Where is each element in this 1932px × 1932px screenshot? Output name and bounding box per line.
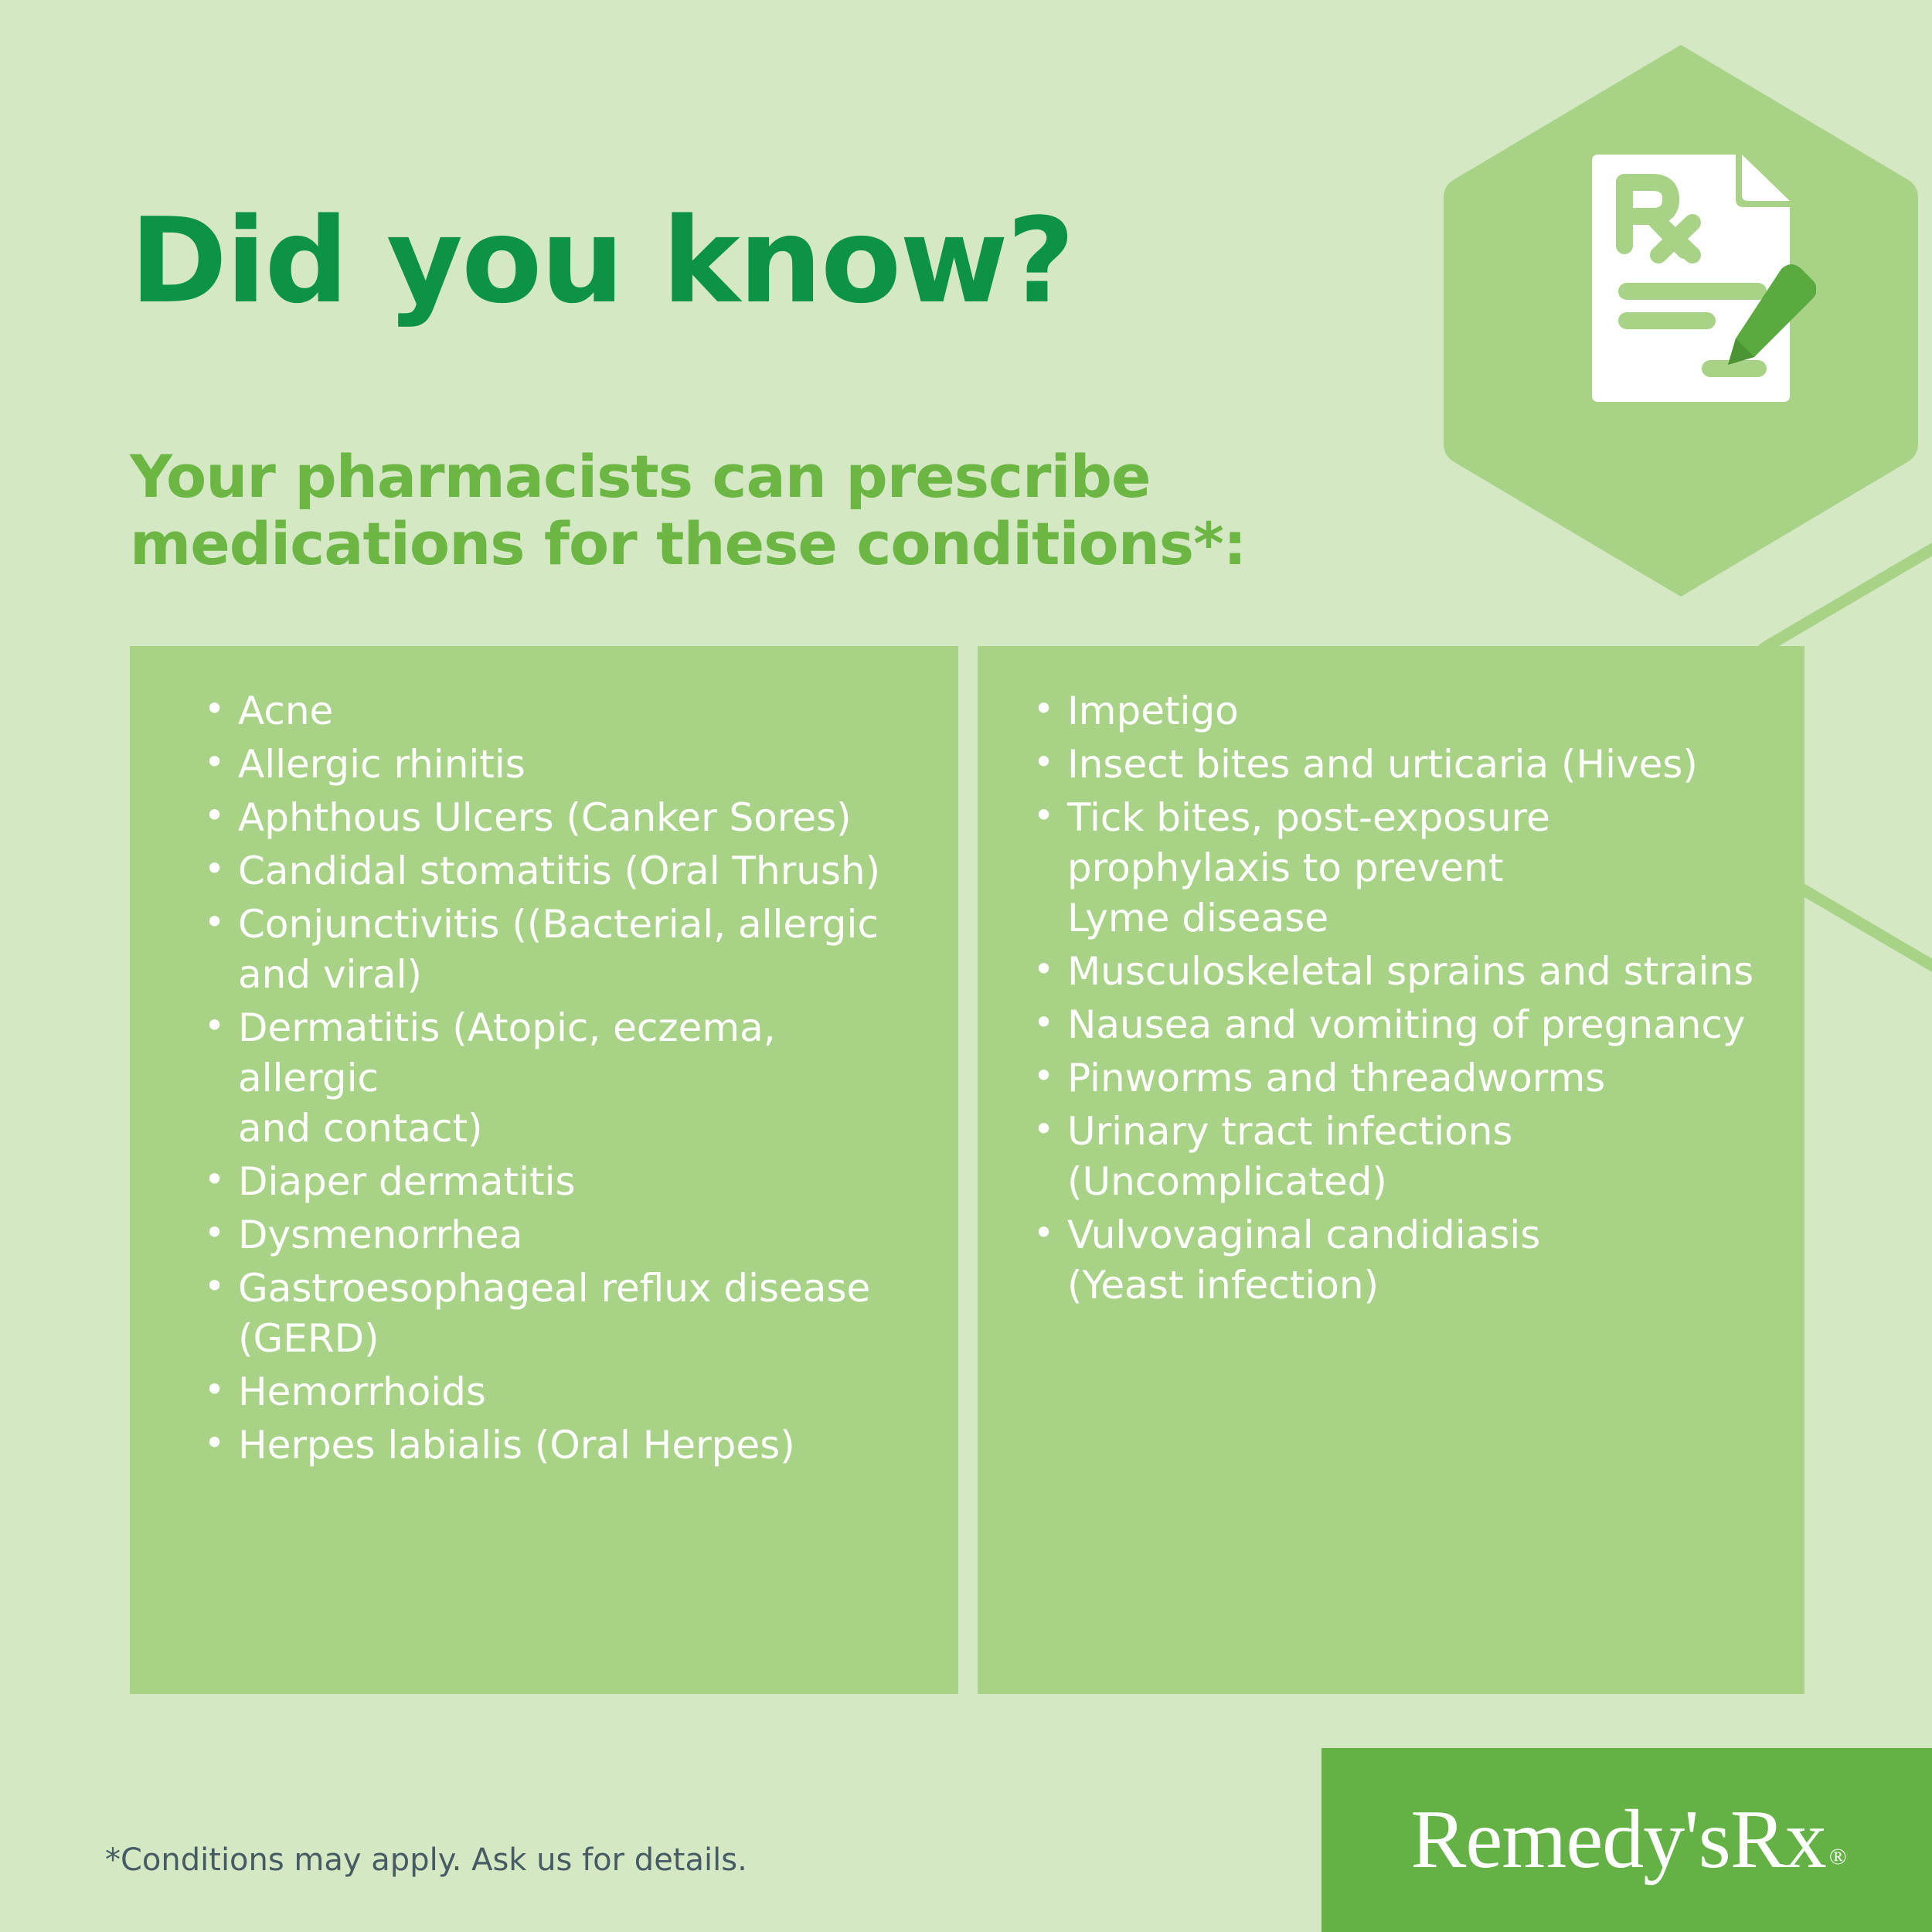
conditions-panel-right: ImpetigoInsect bites and urticaria (Hive… (978, 646, 1804, 1694)
list-item: Dysmenorrhea (193, 1210, 927, 1260)
list-item: Gastroesophageal reflux disease (GERD) (193, 1264, 927, 1364)
list-item: Pinworms and threadworms (1022, 1053, 1774, 1104)
list-item: Conjunctivitis ((Bacterial, allergic and… (193, 900, 927, 1000)
footnote-text: *Conditions may apply. Ask us for detail… (105, 1842, 747, 1878)
list-item: Herpes labialis (Oral Herpes) (193, 1420, 927, 1471)
brand-logo-name: Remedy'sRx (1410, 1792, 1825, 1888)
list-item: Aphthous Ulcers (Canker Sores) (193, 793, 927, 843)
list-item: Insect bites and urticaria (Hives) (1022, 740, 1774, 790)
brand-logo: Remedy'sRx® (1321, 1748, 1932, 1932)
list-item: Diaper dermatitis (193, 1157, 927, 1207)
list-item: Dermatitis (Atopic, eczema, allergic and… (193, 1003, 927, 1154)
list-item: Hemorrhoids (193, 1367, 927, 1417)
page-subtitle: Your pharmacists can prescribe medicatio… (130, 443, 1289, 578)
list-item: Urinary tract infections (Uncomplicated) (1022, 1107, 1774, 1207)
conditions-panel-left: AcneAllergic rhinitisAphthous Ulcers (Ca… (130, 646, 958, 1694)
list-item: Vulvovaginal candidiasis (Yeast infectio… (1022, 1210, 1774, 1311)
page-title: Did you know? (130, 202, 1073, 320)
registered-trademark-icon: ® (1829, 1844, 1846, 1870)
list-item: Impetigo (1022, 686, 1774, 736)
prescription-document-icon (1584, 155, 1816, 402)
conditions-list-left: AcneAllergic rhinitisAphthous Ulcers (Ca… (161, 686, 927, 1471)
list-item: Allergic rhinitis (193, 740, 927, 790)
brand-logo-text: Remedy'sRx® (1321, 1748, 1932, 1932)
list-item: Acne (193, 686, 927, 736)
infographic-poster: Did you know? Your pharmacists can presc… (0, 0, 1932, 1932)
list-item: Candidal stomatitis (Oral Thrush) (193, 846, 927, 896)
conditions-list-right: ImpetigoInsect bites and urticaria (Hive… (1009, 686, 1774, 1311)
list-item: Tick bites, post-exposure prophylaxis to… (1022, 793, 1774, 944)
list-item: Nausea and vomiting of pregnancy (1022, 1000, 1774, 1050)
list-item: Musculoskeletal sprains and strains (1022, 947, 1774, 997)
